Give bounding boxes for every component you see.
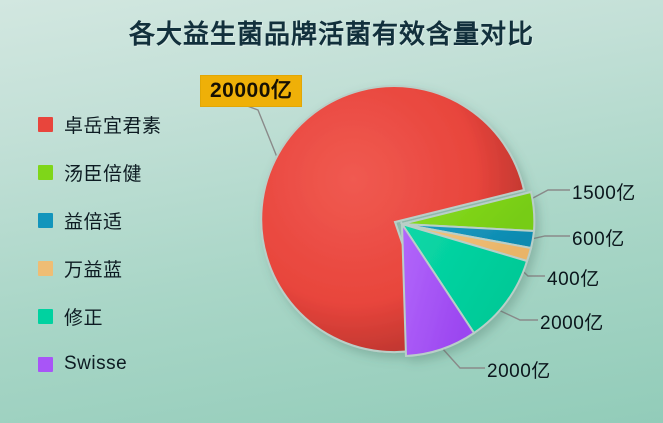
data-label-yibeishi: 600亿: [572, 224, 625, 251]
data-label-wanyilan: 400亿: [547, 264, 600, 291]
data-label-tangchenbeijian: 1500亿: [572, 178, 636, 205]
pie-chart: [0, 0, 663, 423]
data-label-zhuoyueyijunsu: 20000亿: [200, 75, 302, 107]
data-label-swisse: 2000亿: [487, 356, 551, 383]
chart-canvas: 各大益生菌品牌活菌有效含量对比 卓岳宜君素 汤臣倍健 益倍适 万益蓝 修正 Sw…: [0, 0, 663, 423]
pie-slices: [261, 86, 534, 356]
leader-line-swisse: [442, 348, 485, 368]
data-label-xiuzheng: 2000亿: [540, 308, 604, 335]
